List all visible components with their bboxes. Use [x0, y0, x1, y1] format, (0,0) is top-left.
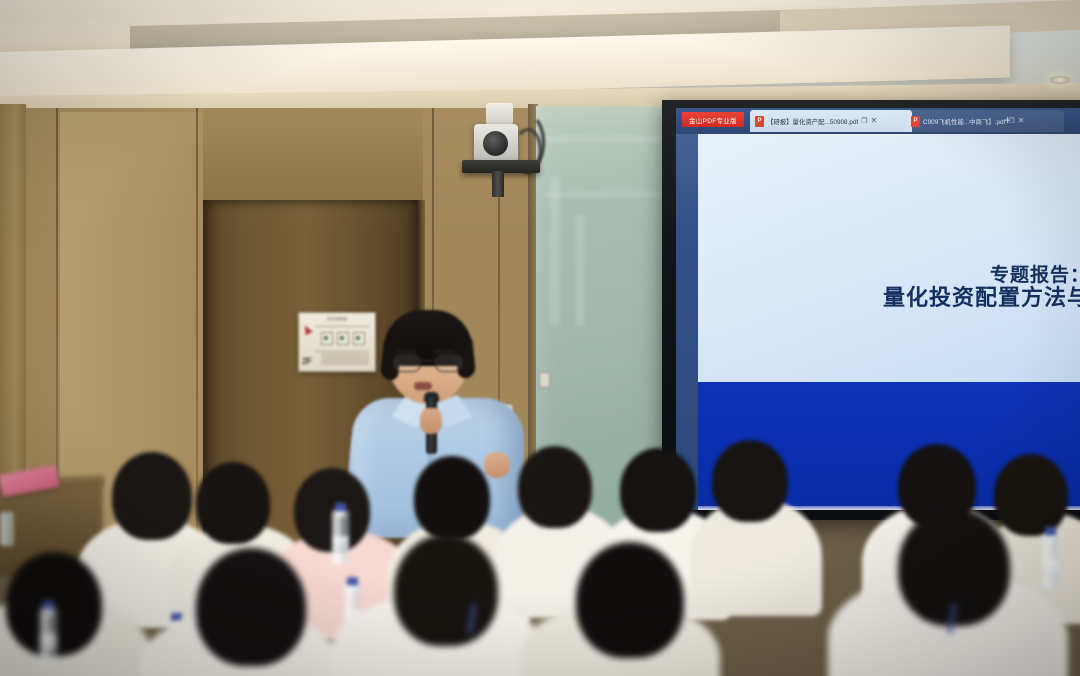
- speaker-left-hand: [420, 408, 442, 434]
- audience-head: [712, 440, 788, 522]
- pdf-file-icon: P: [755, 116, 764, 127]
- sign-title: 安全疏散图: [327, 317, 347, 322]
- pdf-file-icon: P: [911, 116, 920, 127]
- sign-legend: [321, 354, 369, 367]
- door-header-panel: [203, 108, 423, 204]
- audience-head: [196, 462, 270, 544]
- evacuation-map-sign: 安全疏散图 2F: [298, 312, 376, 372]
- speaker-mouth: [414, 382, 432, 390]
- sign-arrow-icon: [301, 324, 312, 336]
- pdf-app-tabbar: 金山PDF专业版 P 【研报】量化资产配...50908.pdf ❐ ✕ P C…: [676, 108, 1080, 134]
- slide-title-line1: 专题报告：: [883, 264, 1080, 286]
- sign-floor-label: 2F: [302, 356, 312, 366]
- speaker-eyebrow: [434, 350, 454, 353]
- glasses-lens-right: [435, 354, 463, 372]
- conference-room-photo: 安全疏散图 2F 金山PDF专业版: [0, 0, 1080, 676]
- audience-head: [394, 534, 498, 646]
- audience-head: [576, 542, 684, 658]
- water-bottle[interactable]: [1042, 534, 1059, 588]
- downlight-icon: [1050, 76, 1070, 84]
- tab-restore-icon[interactable]: ❐: [861, 117, 867, 125]
- camera-mount-top: [486, 103, 513, 125]
- podium-bottle[interactable]: [0, 512, 14, 546]
- slide-title-line2: 量化投资配置方法与: [883, 286, 1080, 312]
- water-bottle[interactable]: [332, 510, 349, 564]
- slide-title: 专题报告： 量化投资配置方法与: [883, 264, 1080, 312]
- audience-head: [518, 446, 592, 528]
- glasses-lens-left: [393, 354, 421, 372]
- tab-c909-aircraft-pdf[interactable]: P C909飞机性能...中商飞】.pdf ❐ ✕: [906, 110, 1064, 132]
- tab-quant-research-pdf[interactable]: P 【研报】量化资产配...50908.pdf ❐ ✕: [750, 110, 912, 132]
- audience-head: [994, 454, 1068, 536]
- camera-bracket-post: [492, 171, 504, 197]
- speaker-eyebrow: [396, 350, 416, 353]
- audience-head: [196, 548, 306, 666]
- tab-close-icon[interactable]: ✕: [871, 117, 878, 125]
- tab-close-icon[interactable]: ✕: [1018, 117, 1025, 125]
- tab-label: 【研报】量化资产配...50908.pdf: [767, 117, 858, 126]
- camera-lens-icon: [483, 131, 508, 156]
- audience-head: [620, 448, 696, 532]
- wall-switch[interactable]: [539, 372, 550, 388]
- wood-panel-seam: [196, 108, 198, 548]
- speaker-glasses: [393, 354, 463, 370]
- new-tab-button[interactable]: +: [1004, 114, 1011, 126]
- tab-label: C909飞机性能...中商飞】.pdf: [923, 117, 1005, 126]
- audience-head: [414, 456, 490, 540]
- glasses-bridge: [419, 360, 437, 362]
- kingsoft-pdf-brand-badge: 金山PDF专业版: [682, 112, 744, 127]
- sign-floorplan: [315, 326, 369, 352]
- audience-head: [112, 452, 192, 540]
- water-bottle[interactable]: [40, 608, 57, 662]
